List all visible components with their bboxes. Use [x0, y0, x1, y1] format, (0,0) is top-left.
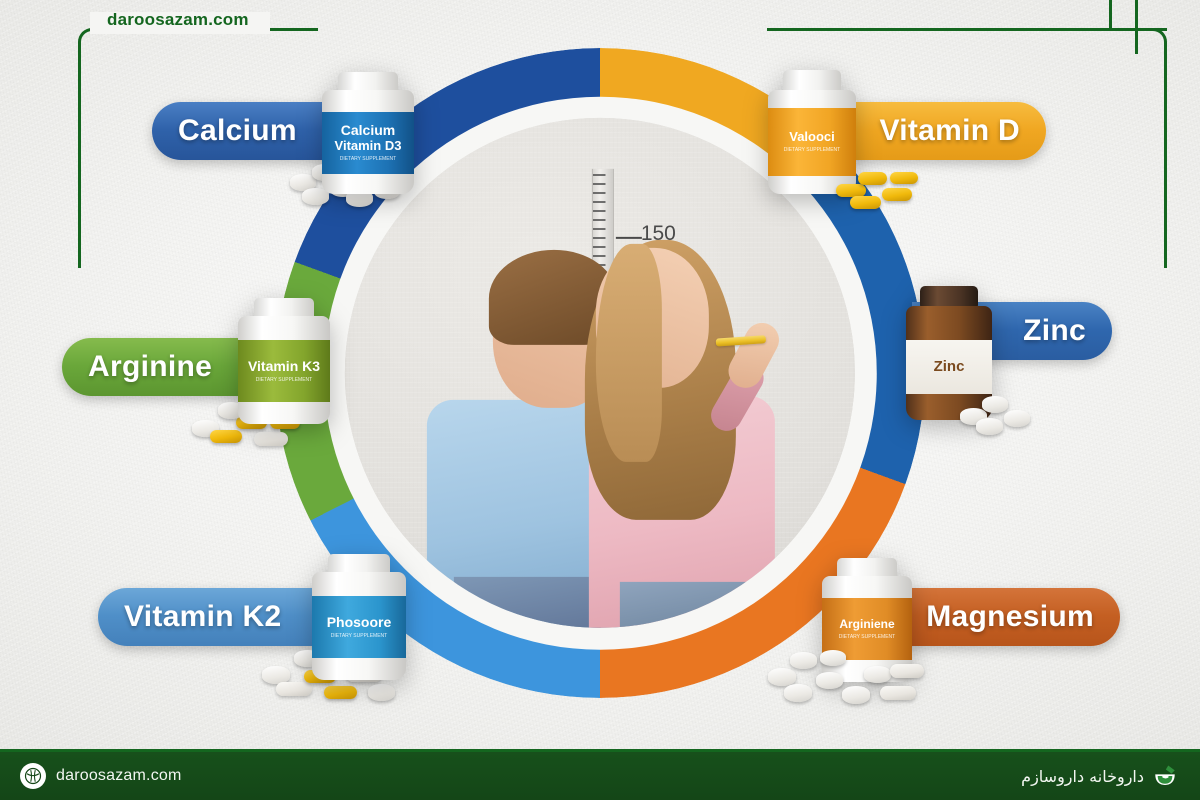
tablets-magnesium	[768, 648, 918, 704]
tablets-zinc	[960, 394, 1032, 434]
mortar-and-pestle-icon	[24, 767, 42, 785]
frame-tick-a	[1135, 0, 1138, 54]
frame-tick-b	[1109, 0, 1112, 28]
bottle-body: Vitamin K3 DIETARY SUPPLEMENT	[238, 316, 330, 424]
bottle-label-line1: Arginiene	[839, 618, 894, 631]
arm-skin	[723, 317, 785, 393]
footer-url[interactable]: daroosazam.com	[56, 767, 182, 785]
bottle-label-line2: Vitamin D3	[335, 139, 402, 153]
bottle-label-line1: Vitamin K3	[248, 359, 320, 374]
bottle-label: Valooci DIETARY SUPPLEMENT	[768, 108, 856, 176]
boy-jeans	[454, 577, 601, 628]
bottle-label-sub: DIETARY SUPPLEMENT	[784, 148, 840, 154]
bottle-label-sub: DIETARY SUPPLEMENT	[839, 635, 895, 641]
pharmacy-mortar-icon	[1152, 763, 1178, 789]
bottle-label-line1: Phosoore	[327, 615, 392, 630]
bottle-phosoore: Phosoore DIETARY SUPPLEMENT	[312, 554, 406, 680]
label-calcium-text: Calcium	[178, 114, 297, 148]
girl-figure	[585, 240, 779, 628]
bottle-label-line1: Zinc	[934, 359, 965, 376]
frame-rule-right	[767, 28, 1167, 31]
capsules-vitamin-d	[836, 168, 922, 210]
bottle-label: Vitamin K3 DIETARY SUPPLEMENT	[238, 340, 330, 402]
label-vitamin-k2-text: Vitamin K2	[124, 600, 282, 634]
bottle-label: Phosoore DIETARY SUPPLEMENT	[312, 596, 406, 658]
site-title: daroosazam.com	[97, 10, 259, 30]
infographic-poster: daroosazam.com 150	[0, 0, 1200, 800]
footer-bar: daroosazam.com داروخانه داروسازم	[0, 752, 1200, 800]
girl-jeans	[620, 582, 756, 629]
bottle-label-sub: DIETARY SUPPLEMENT	[256, 378, 312, 384]
bottle-label-sub: DIETARY SUPPLEMENT	[340, 157, 396, 163]
label-zinc-text: Zinc	[1023, 314, 1086, 348]
logo-badge	[20, 763, 46, 789]
girl-hair-front	[596, 244, 662, 461]
footer-persian-text: داروخانه داروسازم	[1021, 767, 1144, 786]
label-vitamin-d-text: Vitamin D	[879, 114, 1020, 148]
bottle-calcium-d3: Calcium Vitamin D3 DIETARY SUPPLEMENT	[322, 72, 414, 194]
label-magnesium-text: Magnesium	[926, 600, 1094, 634]
ruler-leader-line	[616, 237, 642, 239]
footer-left-group: daroosazam.com	[20, 763, 182, 789]
footer-right-group: داروخانه داروسازم	[1021, 763, 1178, 789]
bottle-body: Calcium Vitamin D3 DIETARY SUPPLEMENT	[322, 90, 414, 194]
bottle-label: Zinc	[906, 340, 992, 394]
bottle-label: Calcium Vitamin D3 DIETARY SUPPLEMENT	[322, 112, 414, 174]
children-photo: 150	[345, 118, 855, 628]
measuring-arm	[713, 310, 771, 442]
bottle-label-sub: DIETARY SUPPLEMENT	[331, 634, 387, 640]
bottle-body: Phosoore DIETARY SUPPLEMENT	[312, 572, 406, 680]
bottle-vitamin-k3: Vitamin K3 DIETARY SUPPLEMENT	[238, 298, 330, 424]
label-arginine-text: Arginine	[88, 350, 212, 384]
bottle-label-line1: Valooci	[789, 130, 835, 144]
bottle-cap	[920, 286, 978, 308]
bottle-label-line1: Calcium	[341, 123, 395, 138]
